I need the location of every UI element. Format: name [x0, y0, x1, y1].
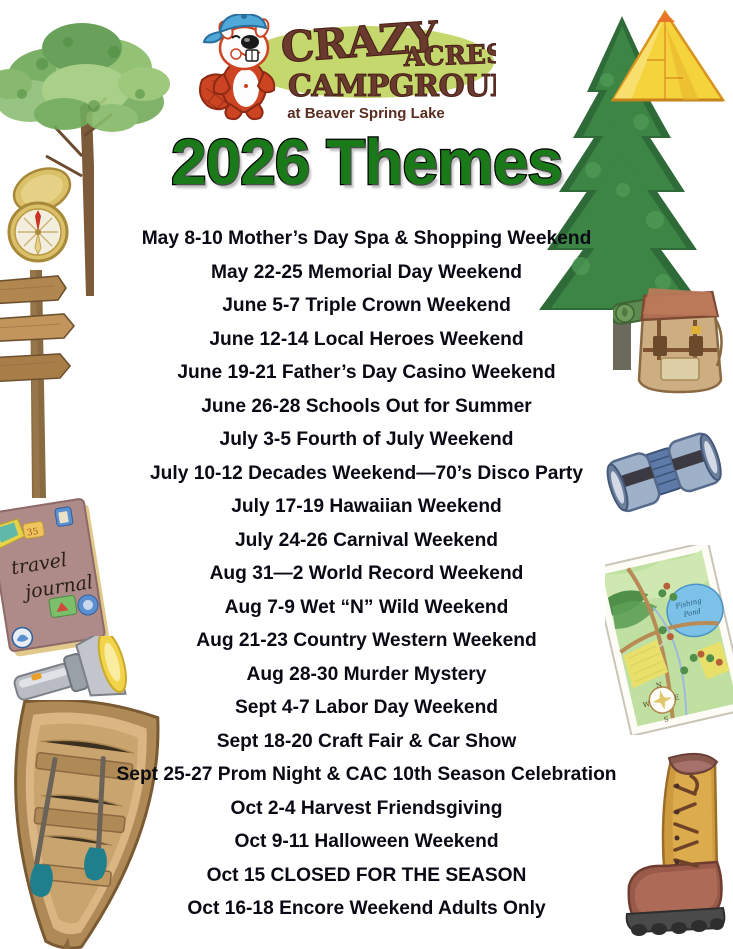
campground-logo: CRAZY ACRES CAMPGROUND at Beaver Spring … [196, 14, 496, 126]
theme-item: Oct 15 CLOSED FOR THE SEASON [0, 859, 733, 893]
theme-item: July 10-12 Decades Weekend—70’s Disco Pa… [0, 457, 733, 491]
theme-item: June 12-14 Local Heroes Weekend [0, 323, 733, 357]
poster-page: travel journal 35 [0, 0, 733, 949]
theme-item: July 17-19 Hawaiian Weekend [0, 490, 733, 524]
theme-item: May 22-25 Memorial Day Weekend [0, 256, 733, 290]
theme-item: Aug 28-30 Murder Mystery [0, 658, 733, 692]
page-title: 2026 Themes [0, 130, 733, 194]
theme-item: Aug 31—2 World Record Weekend [0, 557, 733, 591]
theme-list: May 8-10 Mother’s Day Spa & Shopping Wee… [0, 222, 733, 926]
logo-tagline: at Beaver Spring Lake [287, 105, 445, 122]
theme-item: Oct 2-4 Harvest Friendsgiving [0, 792, 733, 826]
theme-item: Sept 18-20 Craft Fair & Car Show [0, 725, 733, 759]
tent-icon [607, 8, 727, 116]
theme-item: Oct 16-18 Encore Weekend Adults Only [0, 892, 733, 926]
theme-item: June 26-28 Schools Out for Summer [0, 390, 733, 424]
theme-item: July 24-26 Carnival Weekend [0, 524, 733, 558]
theme-item: June 5-7 Triple Crown Weekend [0, 289, 733, 323]
theme-item: Aug 7-9 Wet “N” Wild Weekend [0, 591, 733, 625]
theme-item: July 3-5 Fourth of July Weekend [0, 423, 733, 457]
theme-item: June 19-21 Father’s Day Casino Weekend [0, 356, 733, 390]
logo-brand-acres: ACRES [402, 39, 496, 73]
theme-item: Aug 21-23 Country Western Weekend [0, 624, 733, 658]
theme-item: Oct 9-11 Halloween Weekend [0, 825, 733, 859]
theme-item: Sept 25-27 Prom Night & CAC 10th Season … [0, 758, 733, 792]
logo-brand-campground: CAMPGROUND [288, 69, 496, 104]
theme-item: May 8-10 Mother’s Day Spa & Shopping Wee… [0, 222, 733, 256]
theme-item: Sept 4-7 Labor Day Weekend [0, 691, 733, 725]
